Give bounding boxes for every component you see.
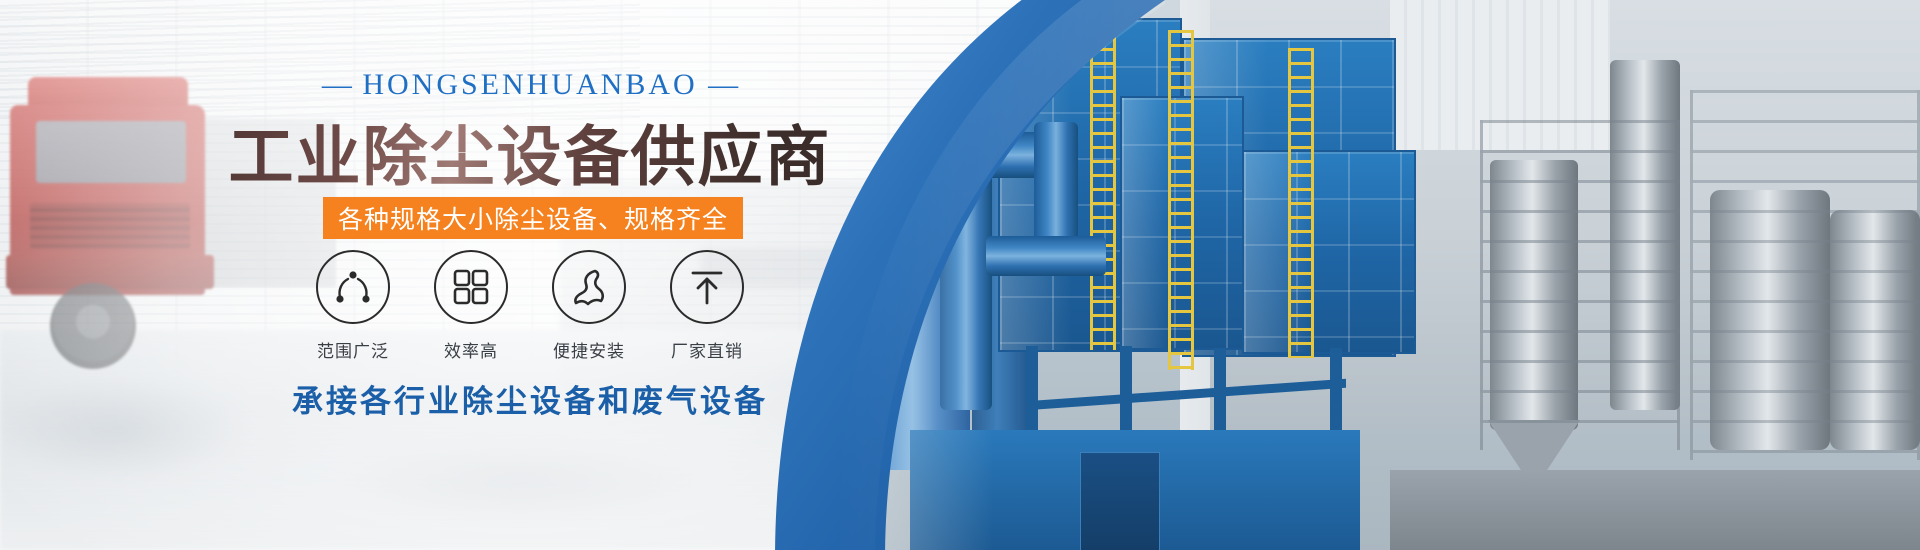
steel-frame-1 <box>1480 120 1680 450</box>
support-leg-2 <box>1120 346 1132 436</box>
feature-label: 范围广泛 <box>317 337 389 362</box>
feature-item-efficiency[interactable]: 效率高 <box>428 250 514 362</box>
up-arrow-bar-icon <box>670 250 744 324</box>
eyebrow-text: HONGSENHUANBAO <box>362 68 697 101</box>
page-title: 工业除尘设备供应商 <box>0 104 1060 198</box>
feature-list: 范围广泛 效率高 <box>310 250 750 360</box>
steel-frame-2 <box>1690 90 1920 460</box>
feature-item-direct-sale[interactable]: 厂家直销 <box>664 250 750 362</box>
promo-banner: — HONGSENHUANBAO — 工业除尘设备供应商 各种规格大小除尘设备、… <box>0 0 1920 550</box>
eyebrow-dash-left: — <box>322 68 352 101</box>
network-nodes-icon <box>316 250 390 324</box>
feature-label: 便捷安装 <box>553 337 625 362</box>
feature-label: 效率高 <box>444 337 498 362</box>
access-door <box>1080 452 1160 550</box>
wrench-icon <box>552 250 626 324</box>
ground-slab-right <box>1390 470 1920 550</box>
brand-eyebrow: — HONGSENHUANBAO — <box>0 68 1060 102</box>
ladder-1 <box>1090 20 1116 350</box>
tagline: 承接各行业除尘设备和废气设备 <box>0 376 1060 421</box>
feature-item-coverage[interactable]: 范围广泛 <box>310 250 396 362</box>
eyebrow-dash-right: — <box>708 68 738 101</box>
feature-item-installation[interactable]: 便捷安装 <box>546 250 632 362</box>
banner-content: — HONGSENHUANBAO — 工业除尘设备供应商 各种规格大小除尘设备、… <box>0 0 1060 550</box>
feature-label: 厂家直销 <box>671 337 743 362</box>
subtitle-bar: 各种规格大小除尘设备、规格齐全 <box>323 197 743 239</box>
ladder-3 <box>1288 48 1314 358</box>
ladder-2 <box>1168 30 1194 370</box>
subtitle-text: 各种规格大小除尘设备、规格齐全 <box>338 200 728 236</box>
support-leg-4 <box>1330 348 1342 436</box>
baghouse-module-4 <box>1242 150 1416 354</box>
grid-squares-icon <box>434 250 508 324</box>
